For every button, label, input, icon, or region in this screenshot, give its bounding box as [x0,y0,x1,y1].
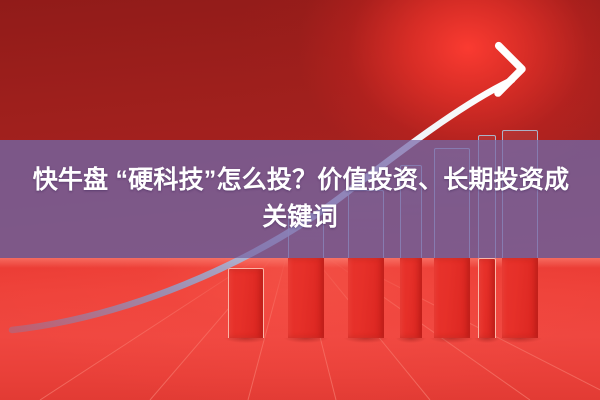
bar-shadow-5 [430,338,474,343]
bar-fill-2 [288,258,324,338]
bar-fill-3 [348,258,384,338]
bar-fill-1 [228,268,264,338]
bar-shadow-3 [344,338,388,343]
title-block: 快牛盘 “硬科技”怎么投？价值投资、长期投资成 关键词 [0,140,600,258]
bar-shadow-1 [224,338,268,343]
title-line-2: 关键词 [262,199,338,236]
bar-fill-4 [400,258,422,338]
bar-shadow-2 [284,338,328,343]
bar-shadow-4 [396,338,426,343]
banner-image: 快牛盘 “硬科技”怎么投？价值投资、长期投资成 关键词 [0,0,600,400]
bar-fill-5 [434,258,470,338]
bar-shadow-6 [474,338,500,343]
title-line-1: 快牛盘 “硬科技”怎么投？价值投资、长期投资成 [31,162,570,199]
bar-fill-7 [502,258,538,338]
bar-shadow-7 [498,338,542,343]
bar-fill-6 [478,258,496,338]
